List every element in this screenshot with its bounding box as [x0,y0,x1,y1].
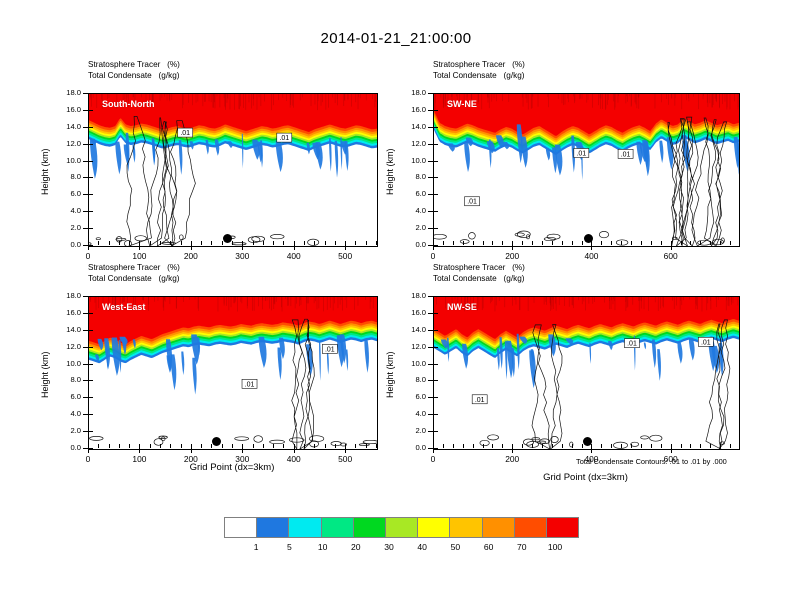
y-tick [83,93,88,94]
x-tick [345,448,346,453]
y-tick-inner [89,228,93,229]
y-axis-title: Height (km) [40,148,50,195]
y-tick-label: 2.0 [393,426,426,435]
y-tick [83,347,88,348]
y-tick-inner [434,347,438,348]
x-tick-minor [730,241,731,245]
contour-label: .01 [242,379,257,388]
tracer-field-sw-ne: .01.01.01 [434,94,739,246]
x-tick-minor [502,444,503,448]
contour-label: .01 [178,128,193,137]
x-tick-minor [562,241,563,245]
y-tick-label: 12.0 [393,342,426,351]
svg-text:.01: .01 [701,339,711,346]
figure-canvas: 2014-01-21_21:00:00 Stratosphere Tracer … [0,0,792,612]
colorbar-cell-9 [514,517,547,538]
x-tick [671,245,672,250]
y-tick-label: 8.0 [393,375,426,384]
x-tick-minor [532,241,533,245]
page-title: 2014-01-21_21:00:00 [0,30,792,47]
plot-panel-west-east[interactable]: .01.01 [88,296,378,450]
x-tick-minor [201,444,202,448]
x-tick-label: 200 [171,251,211,261]
contour-label: .01 [698,337,713,346]
x-axis-title: Grid Point (dx=3km) [88,462,376,473]
x-tick-minor [651,444,652,448]
field-label-tracer: Stratosphere Tracer (%) [88,60,180,69]
y-tick-inner [89,245,93,246]
y-tick-label: 6.0 [393,189,426,198]
contour-label: .01 [624,339,639,348]
x-tick-minor [690,444,691,448]
x-tick-label: 500 [325,251,365,261]
x-tick-minor [294,241,295,245]
y-tick [428,431,433,432]
x-tick-minor [681,241,682,245]
x-tick-minor [483,444,484,448]
contour-label: .01 [277,133,292,142]
panel-field-labels-south-north: Stratosphere Tracer (%)Total Condensate … [88,60,180,81]
x-tick-minor [376,241,377,245]
y-tick [428,110,433,111]
y-tick-inner [434,194,438,195]
y-tick-label: 14.0 [48,325,81,334]
x-tick [242,448,243,453]
y-tick-inner [434,177,438,178]
x-tick-minor [661,241,662,245]
x-tick-minor [601,444,602,448]
x-tick-minor [641,444,642,448]
y-tick [428,211,433,212]
y-tick-label: 16.0 [393,308,426,317]
colorbar-cell-0 [224,517,257,538]
x-tick-label: 400 [274,251,314,261]
y-tick-label: 18.0 [48,291,81,300]
x-tick-minor [273,241,274,245]
x-tick-minor [294,444,295,448]
x-tick-minor [232,444,233,448]
y-tick-inner [89,364,93,365]
x-tick-minor [139,241,140,245]
field-label-tracer: Stratosphere Tracer (%) [433,60,525,69]
x-tick-minor [720,444,721,448]
y-tick-label: 14.0 [393,122,426,131]
y-tick [428,313,433,314]
x-tick-minor [473,241,474,245]
x-axis-title: Grid Point (dx=3km) [433,472,738,483]
x-tick-minor [263,444,264,448]
contour-label: .01 [618,149,633,158]
x-tick-minor [611,444,612,448]
y-axis-title: Height (km) [40,351,50,398]
y-tick [428,380,433,381]
contour-label: .01 [322,344,337,353]
y-tick-inner [89,144,93,145]
x-tick-minor [366,241,367,245]
x-tick-minor [631,241,632,245]
y-tick-inner [89,431,93,432]
x-tick [591,448,592,453]
x-tick-minor [572,444,573,448]
y-tick [83,177,88,178]
x-tick-minor [335,444,336,448]
x-tick-minor [345,241,346,245]
y-tick-label: 16.0 [48,308,81,317]
y-axis-title: Height (km) [385,351,395,398]
contour-label: .01 [574,148,589,157]
x-tick-minor [651,241,652,245]
colorbar-cell-3 [321,517,354,538]
x-tick-minor [273,444,274,448]
x-tick-minor [532,444,533,448]
x-tick-minor [542,444,543,448]
y-tick-label: 4.0 [393,206,426,215]
x-tick-minor [304,241,305,245]
x-tick-minor [443,241,444,245]
x-tick-minor [283,444,284,448]
field-label-tracer: Stratosphere Tracer (%) [88,263,180,272]
x-tick-minor [601,241,602,245]
y-tick-label: 4.0 [393,409,426,418]
svg-text:.01: .01 [576,150,586,157]
plot-panel-south-north[interactable]: .01.01 [88,93,378,247]
y-tick [428,144,433,145]
y-tick [83,211,88,212]
x-tick-minor [191,241,192,245]
x-tick-minor [453,241,454,245]
field-label-condensate: Total Condensate (g/kg) [88,71,179,80]
x-tick-minor [492,444,493,448]
y-tick-label: 0.0 [48,240,81,249]
x-tick [512,245,513,250]
x-tick-minor [355,241,356,245]
y-tick-inner [434,380,438,381]
y-tick [83,161,88,162]
x-tick-minor [522,241,523,245]
x-tick-minor [366,444,367,448]
cross-section-label-south-north: South-North [102,99,154,109]
x-tick-minor [730,444,731,448]
x-tick-minor [552,241,553,245]
x-tick-label: 0 [68,251,108,261]
y-tick-label: 10.0 [393,359,426,368]
y-tick [428,296,433,297]
x-tick-label: 0 [413,454,453,464]
x-tick-minor [562,444,563,448]
y-tick-inner [434,448,438,449]
y-tick-inner [89,397,93,398]
location-marker-west-east [212,437,221,446]
x-tick-minor [211,241,212,245]
contour-label: .01 [465,197,480,206]
tracer-field-west-east: .01.01 [89,297,377,449]
y-tick-label: 6.0 [48,392,81,401]
colorbar-cell-1 [256,517,289,538]
x-tick [512,448,513,453]
y-tick [83,313,88,314]
y-tick-inner [89,161,93,162]
y-tick [83,296,88,297]
y-tick-label: 4.0 [48,206,81,215]
x-tick-minor [542,241,543,245]
y-tick-label: 12.0 [48,139,81,148]
x-tick [433,245,434,250]
x-tick-minor [463,444,464,448]
svg-text:.01: .01 [279,135,289,142]
y-tick-label: 14.0 [48,122,81,131]
y-tick-label: 2.0 [48,223,81,232]
cross-section-label-nw-se: NW-SE [447,302,477,312]
x-tick-label: 0 [413,251,453,261]
colorbar-cell-6 [417,517,450,538]
x-tick-label: 600 [651,251,691,261]
x-tick-minor [720,241,721,245]
x-tick-label: 200 [492,454,532,464]
x-tick-minor [621,241,622,245]
x-tick-minor [502,241,503,245]
x-tick-minor [661,444,662,448]
cross-section-label-west-east: West-East [102,302,145,312]
x-tick-minor [170,241,171,245]
x-tick-minor [681,444,682,448]
x-tick-minor [242,444,243,448]
x-tick [88,448,89,453]
y-tick-inner [434,330,438,331]
y-tick-inner [89,347,93,348]
tracer-field-nw-se: .01.01.01 [434,297,739,449]
cross-section-label-sw-ne: SW-NE [447,99,477,109]
y-tick-label: 6.0 [48,189,81,198]
plot-panel-nw-se[interactable]: .01.01.01 [433,296,740,450]
x-tick-minor [512,241,513,245]
x-tick-minor [211,444,212,448]
y-tick-inner [434,110,438,111]
x-tick-minor [98,241,99,245]
y-tick [83,228,88,229]
y-tick [83,431,88,432]
x-tick-minor [453,444,454,448]
x-tick-minor [222,444,223,448]
x-tick-minor [109,241,110,245]
y-tick-label: 18.0 [48,88,81,97]
colorbar-cell-2 [288,517,321,538]
x-tick-minor [222,241,223,245]
y-tick-label: 8.0 [48,375,81,384]
y-tick-label: 2.0 [393,223,426,232]
x-tick-minor [641,241,642,245]
y-tick-label: 16.0 [48,105,81,114]
x-tick-minor [700,241,701,245]
y-tick-label: 2.0 [48,426,81,435]
panel-field-labels-nw-se: Stratosphere Tracer (%)Total Condensate … [433,263,525,284]
y-tick-label: 16.0 [393,105,426,114]
x-tick-minor [591,444,592,448]
x-tick-minor [492,241,493,245]
x-tick-minor [710,444,711,448]
x-tick [294,245,295,250]
colorbar-cell-10 [546,517,579,538]
x-tick [191,448,192,453]
y-tick [428,347,433,348]
x-tick-minor [283,241,284,245]
x-tick-minor [88,241,89,245]
y-tick-inner [89,313,93,314]
y-tick-label: 18.0 [393,88,426,97]
x-tick-minor [355,444,356,448]
x-tick-minor [690,241,691,245]
svg-text:.01: .01 [627,341,637,348]
y-tick-inner [89,93,93,94]
x-tick-minor [582,444,583,448]
x-tick-minor [463,241,464,245]
x-tick-minor [433,241,434,245]
y-tick [83,144,88,145]
x-tick-minor [181,241,182,245]
tracer-field-south-north: .01.01 [89,94,377,246]
contour-label: .01 [472,395,487,404]
x-tick-minor [181,444,182,448]
panel-field-labels-west-east: Stratosphere Tracer (%)Total Condensate … [88,263,180,284]
x-tick-minor [253,444,254,448]
x-tick-minor [314,241,315,245]
y-tick [428,93,433,94]
svg-text:.01: .01 [621,151,631,158]
y-tick-label: 6.0 [393,392,426,401]
x-tick-minor [160,444,161,448]
colorbar-cell-5 [385,517,418,538]
x-tick-minor [473,444,474,448]
y-tick-label: 12.0 [48,342,81,351]
y-tick [428,330,433,331]
y-tick [428,228,433,229]
y-tick [428,127,433,128]
x-tick [88,245,89,250]
field-label-condensate: Total Condensate (g/kg) [88,274,179,283]
x-tick-minor [621,444,622,448]
x-tick [591,245,592,250]
x-tick-minor [139,444,140,448]
y-tick-inner [434,364,438,365]
x-tick-minor [129,444,130,448]
y-tick-label: 10.0 [393,156,426,165]
plot-panel-sw-ne[interactable]: .01.01.01 [433,93,740,247]
svg-text:.01: .01 [325,346,335,353]
x-tick [345,245,346,250]
y-tick-inner [434,313,438,314]
x-tick-minor [443,444,444,448]
y-tick-inner [434,127,438,128]
y-tick-label: 0.0 [393,443,426,452]
x-tick-minor [483,241,484,245]
x-tick-minor [201,241,202,245]
x-tick-minor [242,241,243,245]
y-tick-inner [434,161,438,162]
x-tick-minor [170,444,171,448]
y-tick [428,414,433,415]
colorbar[interactable] [224,517,579,538]
y-tick-inner [89,296,93,297]
x-tick-label: 300 [222,251,262,261]
x-tick-minor [710,241,711,245]
x-tick-minor [160,241,161,245]
panel-field-labels-sw-ne: Stratosphere Tracer (%)Total Condensate … [433,60,525,81]
x-tick-minor [671,444,672,448]
y-tick-label: 12.0 [393,139,426,148]
y-tick-inner [434,296,438,297]
x-tick-minor [119,241,120,245]
x-tick-minor [253,241,254,245]
x-tick-minor [552,444,553,448]
y-tick-inner [89,330,93,331]
x-tick-minor [129,241,130,245]
x-tick-minor [591,241,592,245]
x-tick [139,448,140,453]
x-tick-minor [119,444,120,448]
x-tick-minor [88,444,89,448]
y-tick-label: 8.0 [393,172,426,181]
x-tick-minor [700,444,701,448]
y-tick [83,397,88,398]
colorbar-tick-label: 100 [535,542,575,552]
x-tick [242,245,243,250]
y-tick-inner [434,228,438,229]
svg-text:.01: .01 [180,130,190,137]
y-tick-inner [434,431,438,432]
svg-text:.01: .01 [475,397,485,404]
y-tick-inner [89,414,93,415]
x-tick [139,245,140,250]
y-tick-label: 18.0 [393,291,426,300]
x-tick-minor [572,241,573,245]
y-tick-label: 10.0 [48,359,81,368]
field-label-condensate: Total Condensate (g/kg) [433,274,524,283]
y-tick-label: 0.0 [393,240,426,249]
y-tick [83,364,88,365]
y-tick [83,194,88,195]
x-tick-label: 100 [119,251,159,261]
y-axis-title: Height (km) [385,148,395,195]
x-tick-minor [582,241,583,245]
y-tick-label: 4.0 [48,409,81,418]
x-tick-minor [325,444,326,448]
x-tick [433,448,434,453]
y-tick [428,364,433,365]
y-tick [428,194,433,195]
x-tick-minor [150,444,151,448]
x-tick [191,245,192,250]
y-tick-inner [434,414,438,415]
svg-text:.01: .01 [245,381,255,388]
x-tick-minor [433,444,434,448]
y-tick-inner [89,177,93,178]
colorbar-cell-4 [353,517,386,538]
x-tick-label: 400 [571,251,611,261]
x-tick-label: 200 [492,251,532,261]
field-label-condensate: Total Condensate (g/kg) [433,71,524,80]
y-tick-inner [434,211,438,212]
x-tick-minor [335,241,336,245]
y-tick-inner [89,127,93,128]
y-tick-label: 0.0 [48,443,81,452]
y-tick [83,110,88,111]
x-tick-minor [611,241,612,245]
x-tick-minor [109,444,110,448]
y-tick [428,161,433,162]
y-tick-inner [89,448,93,449]
x-tick [294,448,295,453]
colorbar-cell-8 [482,517,515,538]
x-tick-minor [314,444,315,448]
